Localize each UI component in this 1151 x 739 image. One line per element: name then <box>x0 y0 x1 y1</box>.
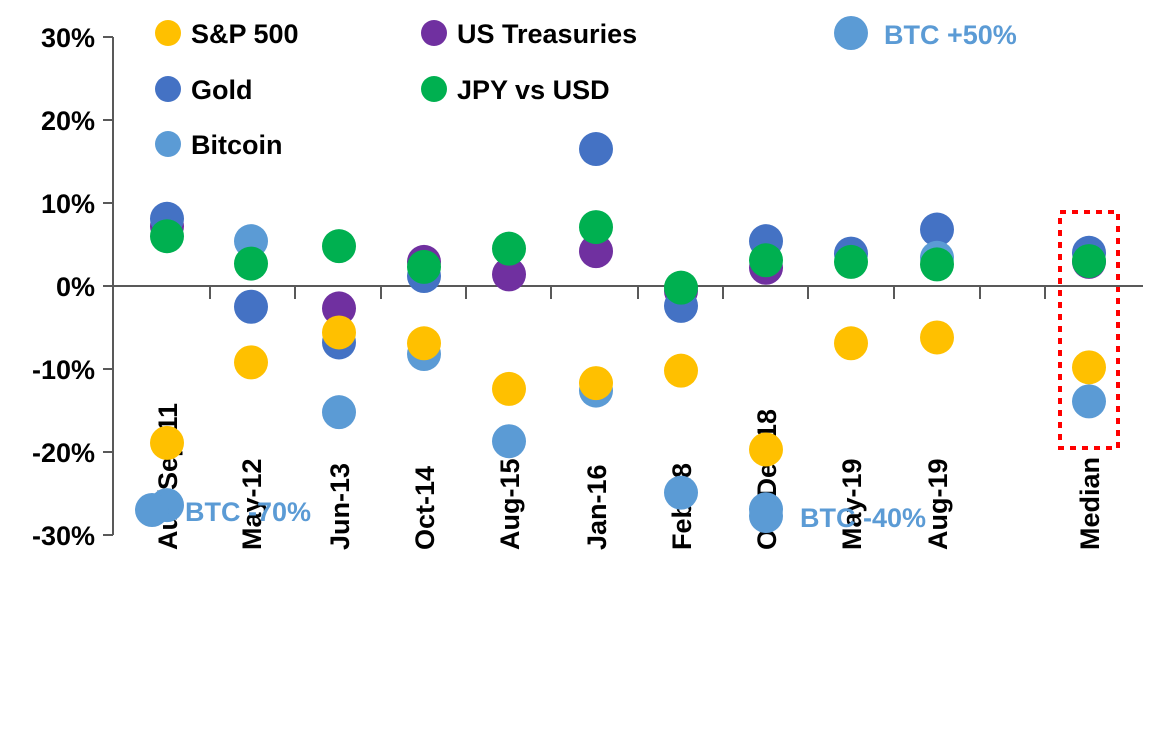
y-axis-label-3: 0% <box>56 272 95 302</box>
data-point <box>579 210 613 244</box>
annotation-label-btc-plus-50: BTC +50% <box>884 20 1017 50</box>
y-axis-label-4: -10% <box>32 355 95 385</box>
legend-marker-gold <box>155 76 181 102</box>
legend-label-gold: Gold <box>191 75 253 105</box>
data-point <box>322 229 356 263</box>
data-point <box>664 354 698 388</box>
annotation-marker-btc-minus-70 <box>135 493 169 527</box>
x-axis-label-3: Oct-14 <box>410 466 440 550</box>
data-point <box>1072 350 1106 384</box>
data-point <box>834 245 868 279</box>
data-point <box>579 132 613 166</box>
legend-marker-bitcoin <box>155 131 181 157</box>
data-point <box>920 247 954 281</box>
data-point <box>150 219 184 253</box>
data-point <box>1072 244 1106 278</box>
legend-label-bitcoin: Bitcoin <box>191 130 283 160</box>
data-point <box>234 247 268 281</box>
x-axis-label-0: Aug/Sep-11 <box>153 403 183 550</box>
data-point <box>322 315 356 349</box>
y-axis-tick-labels: 30%20%10%0%-10%-20%-30% <box>32 23 95 551</box>
x-axis-label-5: Jan-16 <box>582 464 612 550</box>
data-point <box>664 271 698 305</box>
data-point <box>749 243 783 277</box>
annotation-marker-btc-plus-50 <box>834 16 868 50</box>
data-point <box>492 372 526 406</box>
data-point <box>407 250 441 284</box>
y-axis-label-5: -20% <box>32 438 95 468</box>
data-point <box>1072 384 1106 418</box>
data-point <box>492 424 526 458</box>
annotation-label-btc-minus-70: BTC -70% <box>185 497 311 527</box>
data-point <box>492 232 526 266</box>
annotation-label-btc-minus-40: BTC -40% <box>800 503 926 533</box>
legend-marker-us-treasuries <box>421 20 447 46</box>
legend-label-us-treasuries: US Treasuries <box>457 19 637 49</box>
y-axis-label-1: 20% <box>41 106 95 136</box>
legend: S&P 500GoldBitcoinUS TreasuriesJPY vs US… <box>155 19 637 160</box>
data-point <box>150 426 184 460</box>
y-axis-label-0: 30% <box>41 23 95 53</box>
legend-marker-s-p-500 <box>155 20 181 46</box>
x-axis-label-9: Aug-19 <box>923 458 953 550</box>
y-axis-label-6: -30% <box>32 521 95 551</box>
data-points-group <box>150 132 1106 526</box>
x-axis-label-10: Median <box>1075 457 1105 550</box>
data-point <box>407 326 441 360</box>
data-point <box>234 290 268 324</box>
y-axis-label-2: 10% <box>41 189 95 219</box>
x-axis-label-4: Aug-15 <box>495 458 525 550</box>
legend-marker-jpy-vs-usd <box>421 76 447 102</box>
data-point <box>322 395 356 429</box>
x-axis-tick-labels: Aug/Sep-11May-12Jun-13Oct-14Aug-15Jan-16… <box>153 403 1105 550</box>
data-point <box>234 345 268 379</box>
data-point <box>749 433 783 467</box>
data-point <box>664 476 698 510</box>
chart-canvas: 30%20%10%0%-10%-20%-30% Aug/Sep-11May-12… <box>0 0 1151 739</box>
data-point <box>834 326 868 360</box>
data-point <box>579 366 613 400</box>
legend-label-s-p-500: S&P 500 <box>191 19 299 49</box>
x-axis-label-2: Jun-13 <box>325 463 355 550</box>
legend-label-jpy-vs-usd: JPY vs USD <box>457 75 610 105</box>
data-point <box>920 320 954 354</box>
annotation-marker-btc-minus-40 <box>749 499 783 533</box>
scatter-chart: 30%20%10%0%-10%-20%-30% Aug/Sep-11May-12… <box>0 0 1151 739</box>
